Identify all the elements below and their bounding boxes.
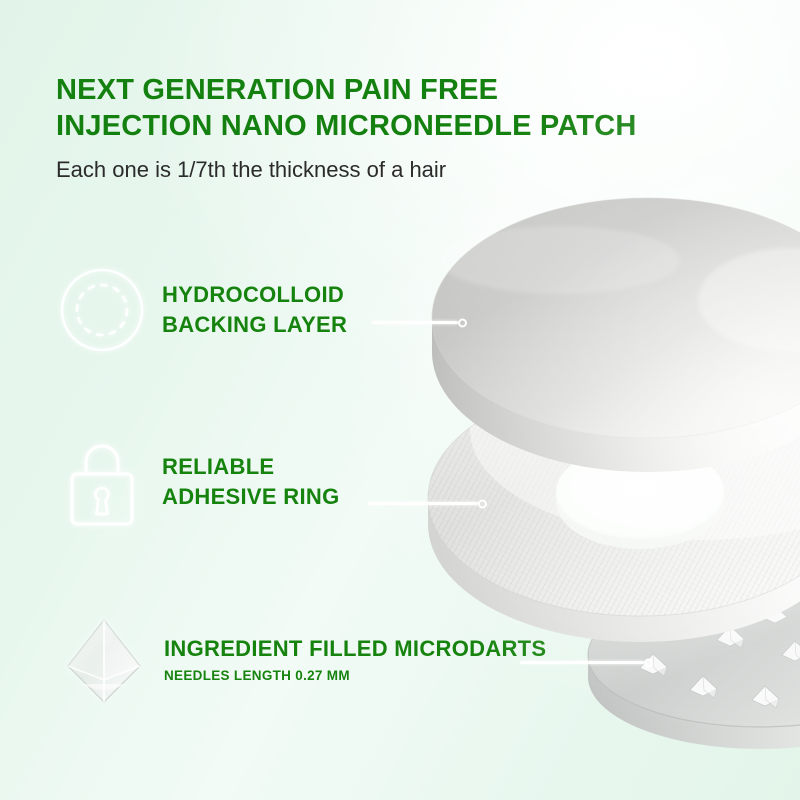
feature-hydrocolloid-backing-layer: HYDROCOLLOID BACKING LAYER [50,258,347,362]
leader-line-adhesive-ring [368,502,478,505]
feature-ingredient-filled-microdarts: INGREDIENT FILLED MICRODARTS NEEDLES LEN… [52,608,546,712]
feature-1-labels: HYDROCOLLOID BACKING LAYER [162,280,347,340]
feature-2-label-line-1: RELIABLE [162,452,339,482]
header-block: NEXT GENERATION PAIN FREE INJECTION NANO… [56,72,676,184]
infographic-canvas: NEXT GENERATION PAIN FREE INJECTION NANO… [0,0,800,800]
leader-dot-backing-layer [458,318,467,327]
adhesive-ring-layer [410,320,800,642]
dotted-circle-patch-glyph [50,258,154,362]
feature-2-labels: RELIABLE ADHESIVE RING [162,452,339,512]
feature-2-label-line-2: ADHESIVE RING [162,482,339,512]
leader-dot-microdarts [644,658,653,667]
microdart-cone-icon [52,608,156,712]
hydrocolloid-backing-layer-art [432,198,800,472]
feature-1-label-line-2: BACKING LAYER [162,310,347,340]
microdart-disc-layer [588,583,800,749]
leader-line-microdarts [520,661,644,664]
leader-dot-adhesive-ring [478,499,487,508]
feature-3-labels: INGREDIENT FILLED MICRODARTS NEEDLES LEN… [164,634,546,686]
page-subtitle: Each one is 1/7th the thickness of a hai… [56,156,676,184]
padlock-glyph [50,430,154,534]
feature-reliable-adhesive-ring: RELIABLE ADHESIVE RING [50,430,339,534]
feature-3-label-line-1: INGREDIENT FILLED MICRODARTS [164,634,546,664]
page-title-line-1: NEXT GENERATION PAIN FREE [56,72,676,108]
feature-3-sublabel: NEEDLES LENGTH 0.27 MM [164,666,546,686]
page-title-line-2: INJECTION NANO MICRONEEDLE PATCH [56,108,676,144]
microdart-cone-glyph [52,608,156,712]
leader-line-backing-layer [372,321,458,324]
dotted-circle-patch-icon [50,258,154,362]
padlock-icon [50,430,154,534]
feature-1-label-line-1: HYDROCOLLOID [162,280,347,310]
